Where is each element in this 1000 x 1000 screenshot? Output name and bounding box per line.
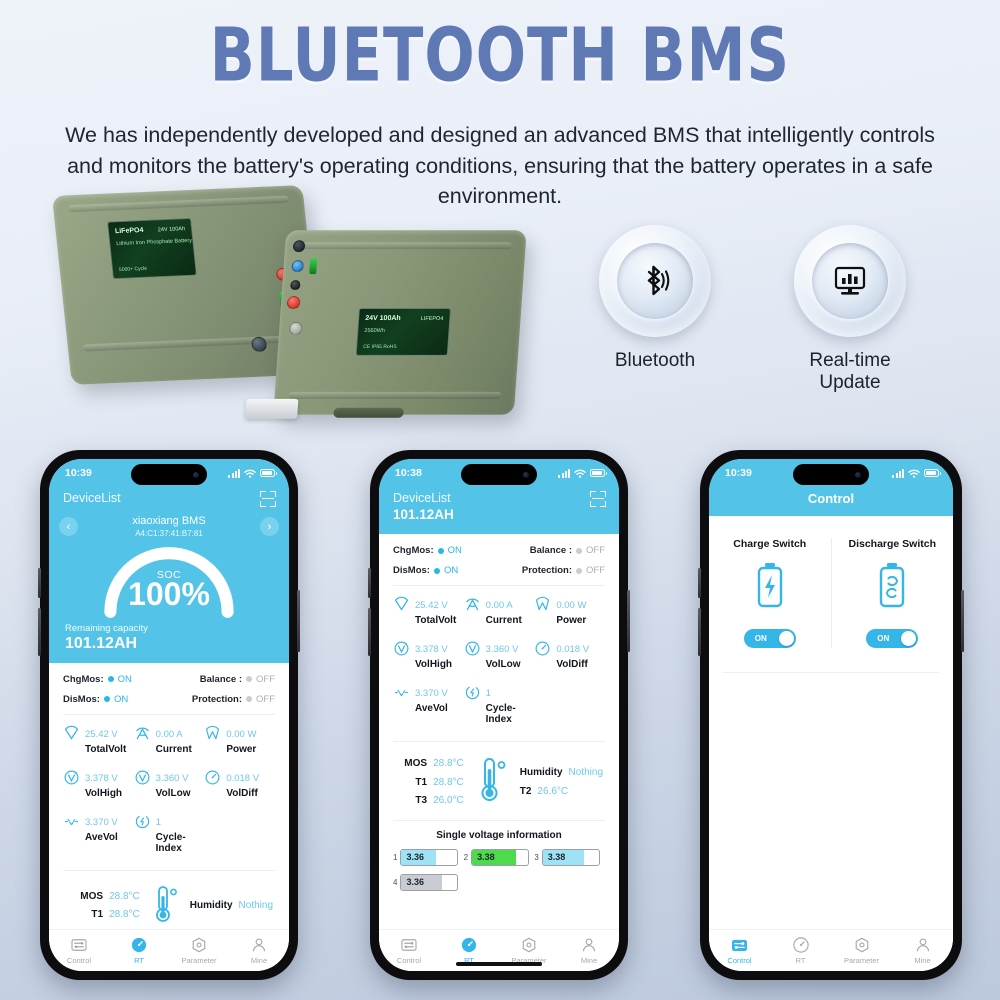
divider (393, 741, 605, 742)
front-camera-icon (193, 472, 199, 478)
cell-index: 1 (393, 853, 397, 862)
balance-status: Balance :OFF (530, 545, 605, 556)
phone2-header: DeviceList 101.12AH (379, 487, 619, 534)
front-camera-icon (855, 472, 861, 478)
chgmos-value: ON (118, 674, 132, 685)
metric-value: 3.378 V (415, 644, 448, 655)
page-title: BLUETOOTH BMS (0, 18, 1000, 92)
tab-rt[interactable]: RT (439, 937, 499, 965)
charge-switch-label: Charge Switch (709, 538, 831, 550)
metric-label: VolHigh (415, 659, 452, 670)
temperature-block: MOS28.8°C T128.8°C T326.0°C HumidityNoth… (393, 751, 605, 817)
side-blue-terminal (291, 260, 304, 272)
label-wh: 2560Wh (364, 328, 385, 334)
cell-voltage-value: 3.38 (477, 852, 495, 862)
discharge-toggle[interactable]: ON (866, 629, 918, 648)
metric-cycle-index: 1Cycle-Index (464, 683, 535, 725)
metrics-grid: 25.42 VTotalVolt 0.00 ACurrent 0.00 WPow… (63, 724, 275, 867)
dismos-label: DisMos: (63, 694, 100, 705)
wattmeter-icon (534, 596, 551, 618)
metric-avevol: 3.370 VAveVol (393, 683, 464, 725)
metric-vollow: 3.360 VVolLow (464, 639, 535, 670)
phone1-header: DeviceList (49, 487, 289, 515)
phone-mockup-control: 10:39 Control Charge Switch ON (700, 450, 962, 980)
metric-volhigh: 3.378 VVolHigh (63, 768, 134, 799)
switch-row: ChgMos:ON Balance :OFF (63, 674, 275, 685)
metric-power: 0.00 WPower (204, 724, 275, 755)
metric-label: VolDiff (226, 788, 259, 799)
status-time: 10:39 (725, 467, 752, 479)
metric-value: 3.360 V (486, 644, 519, 655)
status-dot-on (434, 568, 440, 574)
divider (393, 820, 605, 821)
cell-voltage-value: 3.38 (548, 852, 566, 862)
protection-value: OFF (586, 565, 605, 576)
humidity-label: Humidity (190, 900, 233, 911)
toggle-knob (779, 631, 794, 646)
tab-label: Control (709, 956, 770, 965)
wifi-icon (574, 469, 586, 478)
t1-label: T1 (415, 777, 427, 788)
battery-discharge-icon (875, 561, 909, 613)
device-navigator: ‹ xiaoxiang BMS A4:C1:37:41:B7:81 › (49, 515, 289, 539)
volt-low-icon (134, 769, 151, 791)
tab-control[interactable]: Control (49, 937, 109, 965)
t1-label: T1 (91, 909, 103, 920)
battery-spec-panel: LiFePO4 Lithium Iron Phosphate Battery 2… (107, 218, 197, 279)
label-spec: 24V 100Ah (365, 315, 401, 322)
charge-switch-block: Charge Switch ON (709, 538, 832, 648)
tab-label: Mine (892, 956, 953, 965)
metric-power: 0.00 WPower (534, 595, 605, 626)
feature-bluetooth: Bluetooth (595, 225, 715, 372)
cycle-icon (134, 813, 151, 835)
metric-totalvolt: 25.42 VTotalVolt (393, 595, 464, 626)
tab-bar: Control RT Parameter Mine (49, 929, 289, 971)
mos-label: MOS (80, 891, 103, 902)
side-vent (289, 322, 303, 335)
volt-high-icon (393, 640, 410, 662)
tab-mine[interactable]: Mine (229, 937, 289, 965)
metric-value: 1 (486, 688, 491, 699)
tab-mine[interactable]: Mine (559, 937, 619, 965)
divider (723, 672, 939, 673)
metric-label: TotalVolt (415, 615, 456, 626)
parameter-icon (169, 937, 229, 954)
side-red-terminal (287, 296, 301, 309)
metric-value: 0.018 V (556, 644, 589, 655)
status-time: 10:38 (395, 467, 422, 479)
next-device-button[interactable]: › (260, 517, 279, 536)
tab-label: Control (379, 956, 439, 965)
battery-icon (590, 469, 605, 477)
signal-icon (892, 469, 904, 478)
balance-label: Balance : (200, 674, 242, 685)
anderson-connector (251, 337, 268, 353)
metric-voldiff: 0.018 VVolDiff (204, 768, 275, 799)
wattmeter-icon (204, 725, 221, 747)
label-certs: CE IP65 RoHS (363, 344, 397, 350)
side-dark-connector (293, 240, 306, 252)
metric-value: 0.018 V (226, 773, 259, 784)
control-icon (49, 937, 109, 954)
metric-value: 3.370 V (415, 688, 448, 699)
metric-label: AveVol (415, 703, 448, 714)
mos-value: 28.8°C (109, 891, 140, 902)
bluetooth-icon (635, 261, 675, 301)
front-camera-icon (523, 472, 529, 478)
phone1-screen: 10:39 DeviceList ‹ xiaoxiang BMS A4:C1:3… (49, 459, 289, 971)
metric-value: 1 (156, 817, 161, 828)
header-capacity: 101.12AH (393, 507, 605, 522)
cell-battery-bar: 3.36 (400, 849, 458, 866)
balance-value: OFF (586, 545, 605, 556)
feature-realtime: Real-time Update (790, 225, 910, 394)
metric-value: 25.42 V (415, 600, 448, 611)
scan-icon[interactable] (260, 491, 276, 507)
discharge-switch-label: Discharge Switch (832, 538, 954, 550)
status-dot-on (104, 696, 110, 702)
prev-device-button[interactable]: ‹ (59, 517, 78, 536)
metric-value: 3.370 V (85, 817, 118, 828)
chgmos-label: ChgMos: (393, 545, 434, 556)
device-mac: A4:C1:37:41:B7:81 (132, 529, 205, 539)
control-icon (379, 937, 439, 954)
wifi-icon (244, 469, 256, 478)
phone2-content-sheet: ChgMos:ON Balance :OFF DisMos:ON Protect… (379, 534, 619, 899)
metric-label: AveVol (85, 832, 118, 843)
discharge-switch-block: Discharge Switch ON (832, 538, 954, 648)
switch-row: DisMos:ON Protection:OFF (393, 565, 605, 576)
notch (793, 464, 869, 485)
humidity-label: Humidity (520, 767, 563, 778)
metric-label: VolLow (486, 659, 521, 670)
metric-value: 3.360 V (156, 773, 189, 784)
metric-value: 25.42 V (85, 729, 118, 740)
feature-label: Real-time Update (790, 350, 910, 394)
dismos-value: ON (114, 694, 128, 705)
wifi-icon (908, 469, 920, 478)
status-dot-off (246, 696, 252, 702)
divider (63, 870, 275, 871)
tab-label: Mine (229, 956, 289, 965)
bluetooth-badge (599, 225, 711, 337)
tab-label: Control (49, 956, 109, 965)
tab-parameter[interactable]: Parameter (499, 937, 559, 965)
metric-value: 0.00 A (156, 729, 183, 740)
battery-charge-icon (753, 561, 787, 613)
phone-mockup-realtime: 10:39 DeviceList ‹ xiaoxiang BMS A4:C1:3… (40, 450, 298, 980)
metric-voldiff: 0.018 VVolDiff (534, 639, 605, 670)
metric-current: 0.00 ACurrent (134, 724, 205, 755)
divider (63, 714, 275, 715)
tab-label: Mine (559, 956, 619, 965)
cycle-icon (464, 684, 481, 706)
phone-mockup-details: 10:38 DeviceList 101.12AH ChgMos:ON Bala… (370, 450, 628, 980)
notch (131, 464, 207, 485)
metric-label: Current (156, 744, 192, 755)
metric-value: 0.00 A (486, 600, 513, 611)
feature-badges: Bluetooth Real-time Update (585, 225, 975, 400)
protection-status: Protection:OFF (192, 694, 275, 705)
balance-value: OFF (256, 674, 275, 685)
control-icon (709, 937, 770, 954)
remaining-capacity: Remaining capacity 101.12AH (49, 621, 289, 663)
signal-icon (228, 469, 240, 478)
metric-current: 0.00 ACurrent (464, 595, 535, 626)
device-name: xiaoxiang BMS (132, 515, 205, 529)
metric-label: Current (486, 615, 522, 626)
discharge-toggle-label: ON (877, 634, 889, 643)
humidity-value: Nothing (569, 767, 603, 778)
thermometer-icon (148, 884, 182, 929)
tab-label: RT (770, 956, 831, 965)
chgmos-value: ON (448, 545, 462, 556)
capacity-value: 101.12AH (65, 635, 273, 653)
t1-value: 28.8°C (433, 777, 464, 788)
protection-status: Protection:OFF (522, 565, 605, 576)
protection-label: Protection: (522, 565, 572, 576)
metric-value: 0.00 W (226, 729, 256, 740)
t2-label: T2 (520, 786, 532, 797)
realtime-badge (794, 225, 906, 337)
home-indicator (456, 962, 542, 966)
mos-value: 28.8°C (433, 758, 464, 769)
cell-voltage-list: 1 3.36 2 3.38 3 3.38 4 3.36 (393, 849, 605, 899)
chgmos-status: ChgMos:ON (393, 545, 462, 556)
rt-gauge-icon (109, 937, 169, 954)
cell-battery-bar: 3.38 (542, 849, 600, 866)
balance-label: Balance : (530, 545, 572, 556)
side-power-switch (309, 258, 317, 274)
header-title: DeviceList (63, 491, 275, 505)
status-dot-off (576, 548, 582, 554)
protection-value: OFF (256, 694, 275, 705)
feature-label: Bluetooth (595, 350, 715, 372)
cell-index: 4 (393, 878, 397, 887)
metric-label: VolHigh (85, 788, 122, 799)
thermometer-icon (472, 756, 512, 809)
rt-gauge-icon (439, 937, 499, 954)
tab-label: Parameter (169, 956, 229, 965)
cell-voltage-value: 3.36 (406, 877, 424, 887)
phone1-blue-area: 10:39 DeviceList ‹ xiaoxiang BMS A4:C1:3… (49, 459, 289, 663)
white-plug-connector (245, 399, 299, 419)
rt-gauge-icon (770, 937, 831, 954)
metric-label: VolDiff (556, 659, 589, 670)
cell-index: 3 (534, 853, 538, 862)
tab-rt[interactable]: RT (770, 937, 831, 965)
tab-label: Parameter (831, 956, 892, 965)
metric-label: Cycle-Index (156, 832, 205, 854)
panel-brand: LiFePO4 (115, 227, 144, 235)
mine-person-icon (229, 937, 289, 954)
metric-volhigh: 3.378 VVolHigh (393, 639, 464, 670)
capacity-label: Remaining capacity (65, 623, 273, 634)
metric-label: Cycle-Index (486, 703, 535, 725)
tab-rt[interactable]: RT (109, 937, 169, 965)
tab-label: RT (109, 956, 169, 965)
dismos-label: DisMos: (393, 565, 430, 576)
tab-parameter[interactable]: Parameter (169, 937, 229, 965)
metric-value: 3.378 V (85, 773, 118, 784)
scan-icon[interactable] (590, 491, 606, 507)
charge-toggle-label: ON (755, 634, 767, 643)
volt-low-icon (464, 640, 481, 662)
battery-icon (260, 469, 275, 477)
ammeter-icon (134, 725, 151, 747)
phone1-content-sheet: ChgMos:ON Balance :OFF DisMos:ON Protect… (49, 663, 289, 935)
phone3-screen: 10:39 Control Charge Switch ON (709, 459, 953, 971)
cell-index: 2 (464, 853, 468, 862)
cell-voltage-item: 3 3.38 (534, 849, 605, 866)
metric-label: Power (226, 744, 256, 755)
tab-control[interactable]: Control (379, 937, 439, 965)
metrics-grid: 25.42 VTotalVolt 0.00 ACurrent 0.00 WPow… (393, 595, 605, 738)
t2-value: 26.6°C (537, 786, 568, 797)
protection-label: Protection: (192, 694, 242, 705)
dismos-status: DisMos:ON (63, 694, 128, 705)
realtime-monitor-icon (830, 261, 870, 301)
metric-label: Power (556, 615, 586, 626)
signal-icon (558, 469, 570, 478)
t3-label: T3 (415, 795, 427, 806)
soc-value: 100% (49, 576, 289, 613)
mine-person-icon (892, 937, 953, 954)
avg-volt-icon (63, 813, 80, 835)
metric-totalvolt: 25.42 VTotalVolt (63, 724, 134, 755)
metric-label: TotalVolt (85, 744, 126, 755)
metric-avevol: 3.370 VAveVol (63, 812, 134, 854)
ammeter-icon (464, 596, 481, 618)
toggle-knob (901, 631, 916, 646)
status-dot-on (438, 548, 444, 554)
divider (393, 585, 605, 586)
temperature-block: MOS28.8°C T128.8°C HumidityNothing (63, 880, 275, 935)
tab-parameter[interactable]: Parameter (831, 937, 892, 965)
parameter-icon (499, 937, 559, 954)
cell-battery-bar: 3.36 (400, 874, 458, 891)
header-title: DeviceList (393, 491, 605, 505)
charge-toggle[interactable]: ON (744, 629, 796, 648)
metric-label: VolLow (156, 788, 191, 799)
switch-row: ChgMos:ON Balance :OFF (393, 545, 605, 556)
volt-high-icon (63, 769, 80, 791)
carry-handle (333, 408, 404, 418)
cell-voltage-item: 2 3.38 (464, 849, 535, 866)
status-time: 10:39 (65, 467, 92, 479)
chgmos-status: ChgMos:ON (63, 674, 132, 685)
label-chem: LIFEPO4 (420, 316, 443, 322)
volt-diff-icon (534, 640, 551, 662)
phone2-screen: 10:38 DeviceList 101.12AH ChgMos:ON Bala… (379, 459, 619, 971)
dismos-value: ON (444, 565, 458, 576)
voltmeter-icon (63, 725, 80, 747)
soc-gauge: SOC 100% (49, 543, 289, 621)
balance-status: Balance :OFF (200, 674, 275, 685)
control-panel: Charge Switch ON Discharge Switch (709, 516, 953, 648)
tab-control[interactable]: Control (709, 937, 770, 965)
device-name-block: xiaoxiang BMS A4:C1:37:41:B7:81 (132, 515, 205, 539)
tab-bar: Control RT Parameter Mine (709, 929, 953, 971)
status-dot-off (246, 676, 252, 682)
metric-value: 0.00 W (556, 600, 586, 611)
dismos-status: DisMos:ON (393, 565, 458, 576)
header-title: Control (709, 487, 953, 516)
volt-diff-icon (204, 769, 221, 791)
mine-person-icon (559, 937, 619, 954)
switch-row: DisMos:ON Protection:OFF (63, 694, 275, 705)
battery-icon (924, 469, 939, 477)
panel-cycle: 5000+ Cycle (119, 266, 148, 273)
avg-volt-icon (393, 684, 410, 706)
t1-value: 28.8°C (109, 909, 140, 920)
product-photos: LiFePO4 Lithium Iron Phosphate Battery 2… (40, 180, 560, 410)
status-dot-on (108, 676, 114, 682)
parameter-icon (831, 937, 892, 954)
side-port (290, 280, 301, 290)
cell-battery-bar: 3.38 (471, 849, 529, 866)
notch (461, 464, 537, 485)
tab-mine[interactable]: Mine (892, 937, 953, 965)
metric-vollow: 3.360 VVolLow (134, 768, 205, 799)
cell-voltage-item: 4 3.36 (393, 874, 464, 891)
panel-spec: 24V 100Ah (158, 226, 186, 233)
status-dot-off (576, 568, 582, 574)
single-voltage-title: Single voltage information (393, 830, 605, 841)
cell-voltage-value: 3.36 (406, 852, 424, 862)
battery-label: 24V 100Ah 2560Wh LIFEPO4 CE IP65 RoHS (356, 308, 452, 356)
mos-label: MOS (404, 758, 427, 769)
humidity-value: Nothing (239, 900, 273, 911)
panel-sub: Lithium Iron Phosphate Battery (116, 238, 192, 247)
bms-unit-photo-side: 24V 100Ah 2560Wh LIFEPO4 CE IP65 RoHS (273, 230, 526, 415)
chgmos-label: ChgMos: (63, 674, 104, 685)
t3-value: 26.0°C (433, 795, 464, 806)
cell-voltage-item: 1 3.36 (393, 849, 464, 866)
metric-cycle-index: 1Cycle-Index (134, 812, 205, 854)
voltmeter-icon (393, 596, 410, 618)
